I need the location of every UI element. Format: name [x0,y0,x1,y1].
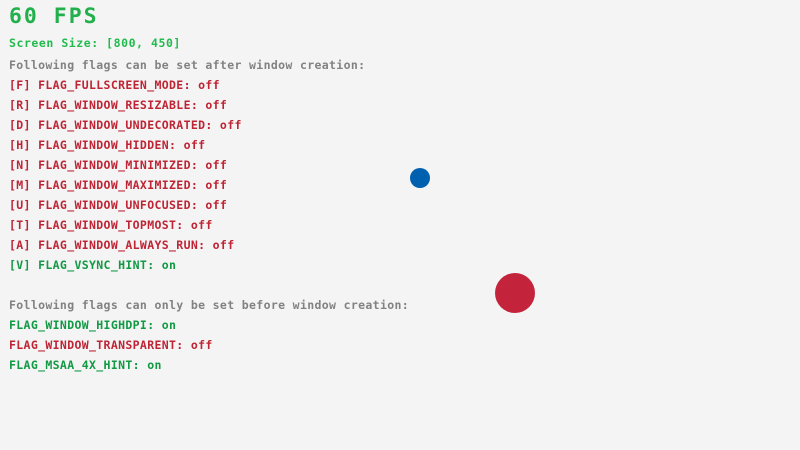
app-window: 60 FPS Screen Size: [800, 450] Following… [0,0,800,450]
flag-row-flag-window-highdpi[interactable]: FLAG_WINDOW_HIGHDPI: on [9,319,176,331]
flag-row-flag-window-maximized[interactable]: [M] FLAG_WINDOW_MAXIMIZED: off [9,179,227,191]
flag-row-flag-window-minimized[interactable]: [N] FLAG_WINDOW_MINIMIZED: off [9,159,227,171]
flag-row-flag-msaa-4x-hint[interactable]: FLAG_MSAA_4X_HINT: on [9,359,162,371]
section-heading-after-creation: Following flags can be set after window … [9,59,365,71]
flag-row-flag-window-resizable[interactable]: [R] FLAG_WINDOW_RESIZABLE: off [9,99,227,111]
red-circle-shape [495,273,535,313]
flag-row-flag-fullscreen-mode[interactable]: [F] FLAG_FULLSCREEN_MODE: off [9,79,220,91]
section-heading-before-creation: Following flags can only be set before w… [9,299,409,311]
flag-row-flag-window-hidden[interactable]: [H] FLAG_WINDOW_HIDDEN: off [9,139,205,151]
flag-row-flag-window-undecorated[interactable]: [D] FLAG_WINDOW_UNDECORATED: off [9,119,242,131]
blue-circle-shape [410,168,430,188]
flag-row-flag-window-transparent[interactable]: FLAG_WINDOW_TRANSPARENT: off [9,339,213,351]
flag-row-flag-window-always-run[interactable]: [A] FLAG_WINDOW_ALWAYS_RUN: off [9,239,234,251]
flag-row-flag-window-topmost[interactable]: [T] FLAG_WINDOW_TOPMOST: off [9,219,213,231]
flag-row-flag-vsync-hint[interactable]: [V] FLAG_VSYNC_HINT: on [9,259,176,271]
screen-size-label: Screen Size: [800, 450] [9,37,181,49]
flag-row-flag-window-unfocused[interactable]: [U] FLAG_WINDOW_UNFOCUSED: off [9,199,227,211]
fps-counter: 60 FPS [9,6,99,27]
